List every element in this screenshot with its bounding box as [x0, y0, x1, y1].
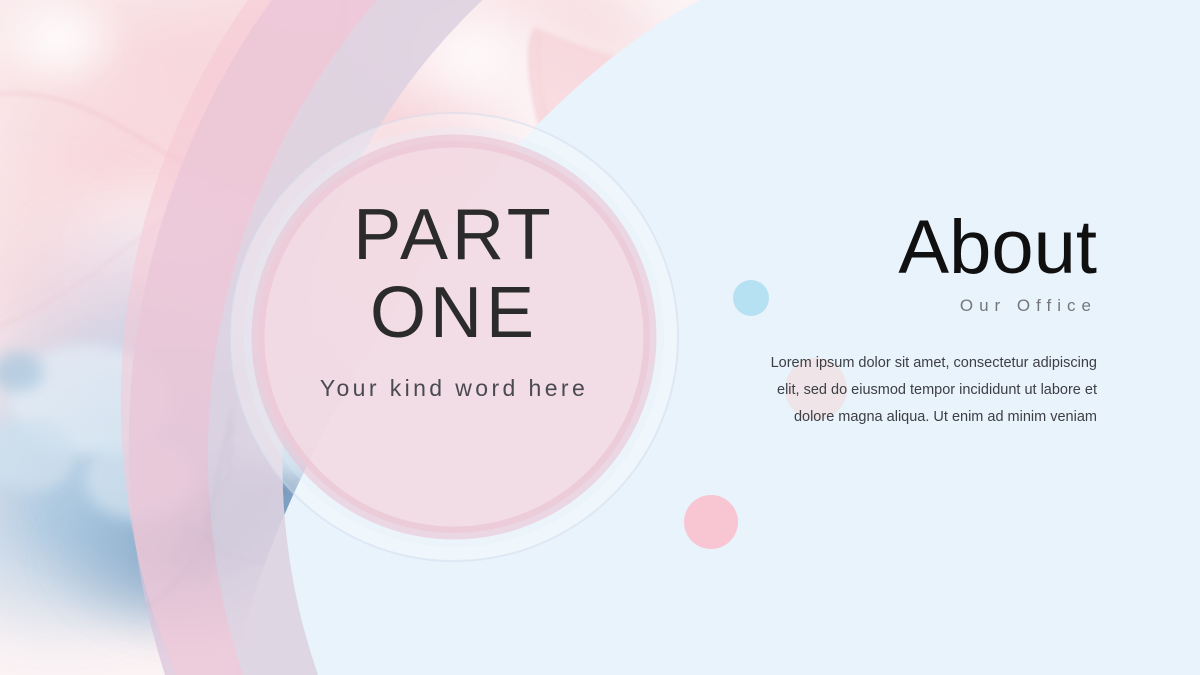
blue-dot-icon: [733, 280, 769, 316]
part-subtitle: Your kind word here: [258, 375, 650, 402]
presentation-slide: PART ONE Your kind word here About Our O…: [0, 0, 1200, 675]
pink-dot-icon: [684, 495, 738, 549]
part-title: PART ONE: [258, 196, 650, 352]
about-body-text: Lorem ipsum dolor sit amet, consectetur …: [757, 350, 1097, 431]
about-subheading: Our Office: [960, 296, 1097, 316]
about-heading: About: [898, 208, 1097, 288]
